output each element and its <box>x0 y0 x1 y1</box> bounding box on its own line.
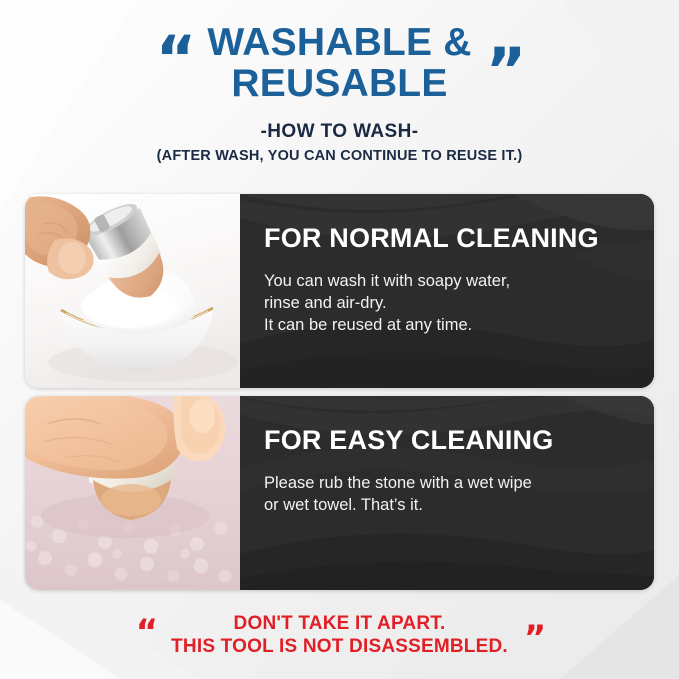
card-title: FOR EASY CLEANING <box>264 426 628 456</box>
card-text: You can wash it with soapy water, rinse … <box>264 271 628 337</box>
instruction-card-easy-cleaning: FOR EASY CLEANING Please rub the stone w… <box>25 396 654 590</box>
photo-hand-over-foam-bowl <box>25 194 240 388</box>
photo-hand-on-pink-towel <box>25 396 240 590</box>
card-title: FOR NORMAL CLEANING <box>264 224 628 254</box>
page-title: WASHABLE & REUSABLE <box>207 22 471 105</box>
quote-close-icon: ” <box>486 42 524 101</box>
warning-text: DON'T TAKE IT APART. THIS TOOL IS NOT DI… <box>171 612 508 658</box>
card-body-normal-cleaning: FOR NORMAL CLEANING You can wash it with… <box>240 194 654 388</box>
card-text: Please rub the stone with a wet wipe or … <box>264 473 628 517</box>
instruction-card-normal-cleaning: FOR NORMAL CLEANING You can wash it with… <box>25 194 654 388</box>
footer-warning: “ DON'T TAKE IT APART. THIS TOOL IS NOT … <box>0 612 679 658</box>
quote-open-icon: “ <box>156 30 194 89</box>
warning-quote-open-icon: “ <box>136 616 155 648</box>
card-body-easy-cleaning: FOR EASY CLEANING Please rub the stone w… <box>240 396 654 590</box>
subtitle-how-to-wash: -HOW TO WASH- <box>0 121 679 143</box>
subtitle-note: (AFTER WASH, YOU CAN CONTINUE TO REUSE I… <box>0 148 679 164</box>
warning-quote-close-icon: ” <box>524 622 543 654</box>
title-row: “ WASHABLE & REUSABLE ” <box>0 22 679 105</box>
header: “ WASHABLE & REUSABLE ” -HOW TO WASH- (A… <box>0 22 679 164</box>
